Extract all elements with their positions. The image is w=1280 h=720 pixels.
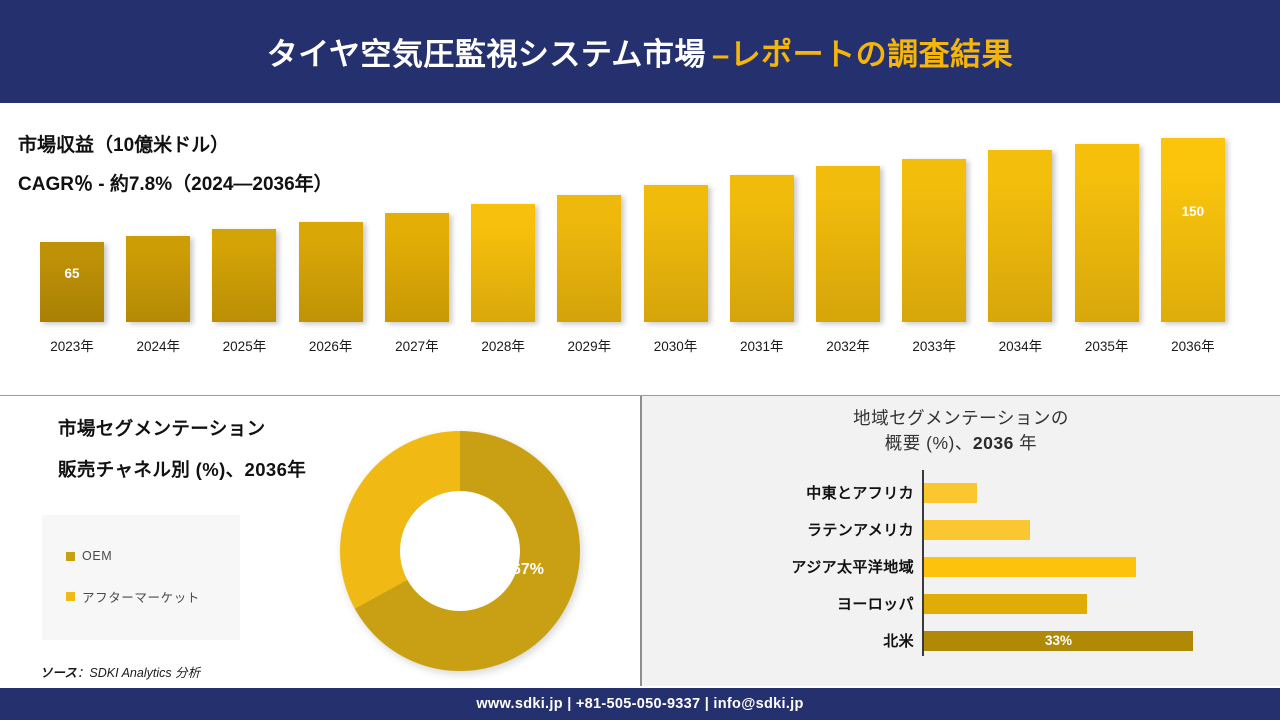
revenue-bar[interactable]: 2033年: [902, 159, 966, 322]
page-title-accent: –レポートの調査結果: [712, 37, 1013, 72]
revenue-bar-category-label: 2035年: [1085, 335, 1129, 355]
revenue-bar-category-label: 2036年: [1171, 335, 1215, 355]
donut-hole: [400, 491, 520, 611]
page-title-main: タイヤ空気圧監視システム市場: [267, 37, 706, 72]
source-prefix: ソース: [40, 666, 77, 680]
revenue-bar-column: 2034年: [988, 126, 1052, 322]
donut-chart: 67%: [340, 431, 590, 681]
legend-label-aftermarket: アフターマーケット: [82, 587, 200, 606]
revenue-bar-column: 2031年: [730, 126, 794, 322]
region-bar[interactable]: 33%: [924, 631, 1193, 651]
revenue-bar-category-label: 2027年: [395, 335, 439, 355]
region-bar-chart: 中東とアフリカラテンアメリカアジア太平洋地域ヨーロッパ北米33%: [642, 470, 1280, 666]
source-text: ：SDKI Analytics 分析: [77, 666, 200, 680]
revenue-bar-category-label: 2026年: [309, 335, 353, 355]
region-bar[interactable]: [924, 557, 1136, 577]
revenue-bar[interactable]: 2030年: [644, 185, 708, 322]
revenue-bar-column: 2035年: [1075, 126, 1139, 322]
donut-value-label: 67%: [512, 561, 544, 579]
revenue-bar-category-label: 2029年: [568, 335, 612, 355]
legend-item-oem[interactable]: OEM: [66, 549, 240, 563]
region-bar-value: 33%: [924, 631, 1193, 651]
revenue-bar-column: 2025年: [212, 126, 276, 322]
revenue-bar-column: 2028年: [471, 126, 535, 322]
region-label: ヨーロッパ: [642, 593, 914, 614]
revenue-bars-container: 652023年2024年2025年2026年2027年2028年2029年203…: [40, 126, 1225, 322]
revenue-bar-category-label: 2033年: [912, 335, 956, 355]
segmentation-title-line2: 販売チャネル別 (%)、2036年: [58, 461, 388, 480]
revenue-bar-category-label: 2028年: [481, 335, 525, 355]
revenue-bar-column: 2030年: [644, 126, 708, 322]
region-title-line2-pre: 概要 (%)、: [885, 433, 973, 453]
legend-label-oem: OEM: [82, 549, 112, 563]
revenue-bar-category-label: 2034年: [999, 335, 1043, 355]
revenue-bar[interactable]: 652023年: [40, 242, 104, 322]
source-note: ソース：SDKI Analytics 分析: [40, 662, 200, 681]
revenue-bar[interactable]: 2027年: [385, 213, 449, 322]
revenue-chart-section: 市場収益（10億米ドル） CAGR％ - 約7.8%（2024―2036年） 6…: [0, 106, 1280, 395]
revenue-bar-column: 2027年: [385, 126, 449, 322]
revenue-bar[interactable]: 2025年: [212, 229, 276, 322]
region-title-line1: 地域セグメンテーションの: [853, 408, 1069, 428]
region-row: 中東とアフリカ: [642, 474, 1280, 511]
region-title-line2-post: 年: [1014, 433, 1037, 453]
region-rows-container: 中東とアフリカラテンアメリカアジア太平洋地域ヨーロッパ北米33%: [642, 474, 1280, 659]
page-title: タイヤ空気圧監視システム市場–レポートの調査結果: [267, 29, 1013, 74]
revenue-bar[interactable]: 2026年: [299, 222, 363, 322]
region-row: アジア太平洋地域: [642, 548, 1280, 585]
revenue-bar[interactable]: 2024年: [126, 236, 190, 322]
revenue-bar-category-label: 2024年: [136, 335, 180, 355]
revenue-bar-category-label: 2030年: [654, 335, 698, 355]
segmentation-legend: OEM アフターマーケット: [42, 515, 240, 640]
revenue-bar-column: 2033年: [902, 126, 966, 322]
revenue-bar[interactable]: 2035年: [1075, 144, 1139, 322]
revenue-bar-category-label: 2025年: [223, 335, 267, 355]
revenue-bar-value: 150: [1161, 204, 1225, 219]
revenue-bar[interactable]: 2032年: [816, 166, 880, 322]
revenue-bar[interactable]: 1502036年: [1161, 138, 1225, 322]
region-title-year: 2036: [973, 433, 1014, 453]
revenue-bar[interactable]: 2028年: [471, 204, 535, 322]
segmentation-title: 市場セグメンテーション 販売チャネル別 (%)、2036年: [58, 420, 388, 479]
revenue-bar-column: 2032年: [816, 126, 880, 322]
revenue-bar-category-label: 2031年: [740, 335, 784, 355]
region-row: ラテンアメリカ: [642, 511, 1280, 548]
legend-swatch-oem: [66, 552, 75, 561]
revenue-bar-category-label: 2032年: [826, 335, 870, 355]
segmentation-panel: 市場セグメンテーション 販売チャネル別 (%)、2036年 OEM アフターマー…: [0, 396, 640, 686]
footer-contact: www.sdki.jp | +81-505-050-9337 | info@sd…: [476, 696, 803, 712]
revenue-bar[interactable]: 2031年: [730, 175, 794, 322]
revenue-bar-column: 1502036年: [1161, 126, 1225, 322]
infographic-page: タイヤ空気圧監視システム市場–レポートの調査結果 市場収益（10億米ドル） CA…: [0, 0, 1280, 720]
revenue-bar[interactable]: 2034年: [988, 150, 1052, 322]
revenue-bar-category-label: 2023年: [50, 335, 94, 355]
footer-banner: www.sdki.jp | +81-505-050-9337 | info@sd…: [0, 688, 1280, 720]
region-row: ヨーロッパ: [642, 585, 1280, 622]
revenue-bar-value: 65: [40, 266, 104, 281]
region-panel: 地域セグメンテーションの 概要 (%)、2036 年 中東とアフリカラテンアメリ…: [642, 396, 1280, 686]
region-label: 北米: [642, 630, 914, 651]
region-label: ラテンアメリカ: [642, 519, 914, 540]
header-banner: タイヤ空気圧監視システム市場–レポートの調査結果: [0, 0, 1280, 103]
region-title: 地域セグメンテーションの 概要 (%)、2036 年: [642, 406, 1280, 457]
region-bar[interactable]: [924, 520, 1030, 540]
revenue-bar[interactable]: 2029年: [557, 195, 621, 322]
revenue-bar-column: 2029年: [557, 126, 621, 322]
legend-swatch-aftermarket: [66, 592, 75, 601]
region-row: 北米33%: [642, 622, 1280, 659]
revenue-bar-column: 2024年: [126, 126, 190, 322]
revenue-bar-chart: 652023年2024年2025年2026年2027年2028年2029年203…: [40, 132, 1225, 362]
segmentation-title-line1: 市場セグメンテーション: [58, 420, 388, 439]
region-label: アジア太平洋地域: [642, 556, 914, 577]
revenue-bar-column: 652023年: [40, 126, 104, 322]
region-bar[interactable]: [924, 594, 1087, 614]
region-label: 中東とアフリカ: [642, 482, 914, 503]
revenue-bar-column: 2026年: [299, 126, 363, 322]
region-bar[interactable]: [924, 483, 977, 503]
legend-item-aftermarket[interactable]: アフターマーケット: [66, 587, 240, 606]
